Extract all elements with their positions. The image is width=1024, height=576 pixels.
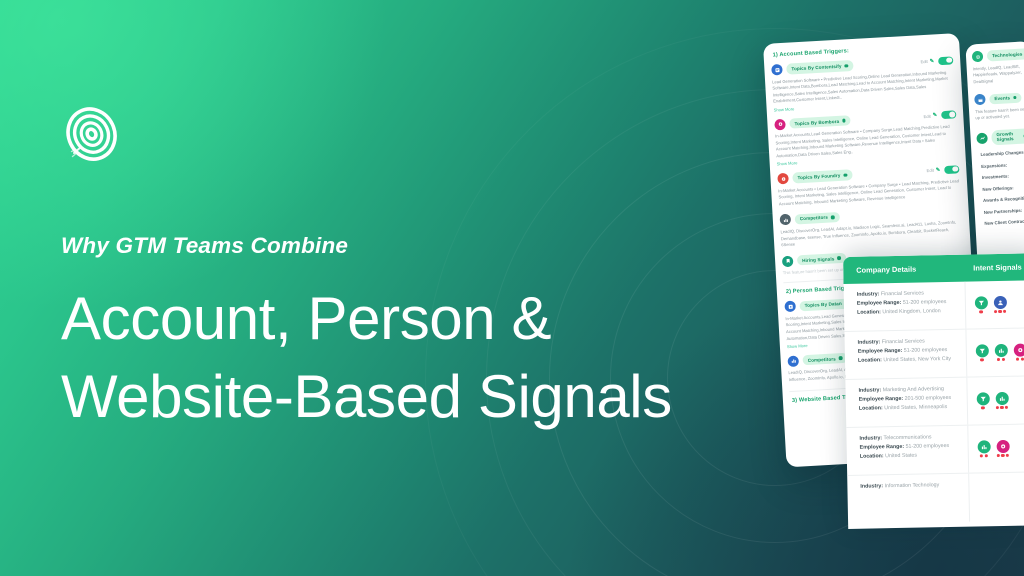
intent-signal-item[interactable]	[1013, 343, 1024, 361]
concentric-target-logo	[61, 104, 123, 166]
trigger-chip[interactable]: Competitors	[802, 353, 847, 366]
company-details-cell: Industry: Financial ServicesEmployee Ran…	[844, 282, 967, 331]
intent-signals-cell	[967, 376, 1024, 424]
edit-button[interactable]: Edit✎	[920, 58, 934, 65]
signal-strength-pips	[996, 454, 1010, 457]
enable-toggle[interactable]	[944, 165, 959, 174]
location-line: Location: United Kingdom, London	[857, 307, 957, 318]
signal-sub-item[interactable]: New Client Contracts:	[984, 219, 1024, 227]
company-details-cell: Industry: Information Technology	[847, 474, 970, 524]
enable-toggle[interactable]	[941, 110, 956, 119]
intent-signals-cell	[968, 424, 1024, 472]
competitors-icon	[780, 214, 792, 226]
signal-chip[interactable]: Technologies	[987, 48, 1024, 61]
trigger-chip[interactable]: Hiring Signals	[797, 253, 846, 266]
edit-button[interactable]: Edit✎	[923, 112, 937, 119]
page-title: Account, Person & Website-Based Signals	[61, 280, 721, 436]
signal-sub-item[interactable]: Leadership Changes:	[980, 150, 1024, 158]
bombora-icon	[996, 439, 1009, 452]
signal-row[interactable]: TechnologiesIntently, LeadIQ, LeadSift, …	[972, 48, 1024, 85]
intent-signal-item[interactable]	[993, 295, 1007, 313]
industry-line: Industry: Information Technology	[860, 481, 960, 492]
bombora-icon	[1013, 343, 1024, 356]
filter-icon	[976, 392, 989, 405]
technologies-icon	[972, 51, 984, 63]
trigger-row[interactable]: Topics By FoundryEdit✎In-Market Accounts…	[777, 163, 961, 207]
table-row[interactable]: Industry: Marketing And AdvertisingEmplo…	[845, 376, 1024, 428]
location-line: Location: United States, Minneapolis	[859, 403, 959, 414]
signal-sub-item[interactable]: Expansions:	[981, 161, 1024, 169]
company-details-table: Company Details Intent Signals Industry:…	[843, 253, 1024, 529]
foundry-icon	[777, 173, 789, 185]
signal-sub-item[interactable]: New Offerings:	[982, 184, 1024, 192]
trigger-chip[interactable]: Topics By Bombora	[789, 115, 851, 129]
competitors-icon	[787, 355, 799, 367]
trigger-chip[interactable]: Competitors	[795, 212, 840, 225]
dataprovider-icon	[784, 301, 796, 313]
signal-chip[interactable]: Growth Signals	[991, 128, 1024, 145]
growth-icon	[976, 132, 988, 144]
pencil-icon: ✎	[936, 167, 941, 173]
signal-row[interactable]: EventsThis feature hasn't been set up or…	[974, 91, 1024, 122]
company-details-cell: Industry: TelecommunicationsEmployee Ran…	[846, 426, 969, 475]
trigger-row[interactable]: CompetitorsLeadIQ, DiscoverOrg, LeadAI, …	[780, 205, 964, 249]
intent-signals-cell	[966, 328, 1024, 376]
table-row[interactable]: Industry: Financial ServicesEmployee Ran…	[844, 280, 1024, 332]
signal-strength-pips	[977, 454, 991, 457]
signal-strength-pips	[1013, 358, 1024, 361]
location-line: Location: United States, New York City	[858, 355, 958, 366]
intent-signal-item[interactable]	[975, 344, 989, 362]
signal-strength-pips	[994, 358, 1008, 361]
pencil-icon: ✎	[930, 58, 935, 64]
column-header-intent-signals: Intent Signals	[965, 263, 1022, 273]
table-row[interactable]: Industry: Information Technology	[847, 472, 1024, 524]
company-details-cell: Industry: Marketing And AdvertisingEmplo…	[845, 378, 968, 427]
signal-strength-pips	[993, 310, 1007, 313]
edit-button[interactable]: Edit✎	[926, 167, 940, 174]
trigger-row[interactable]: Topics By ContentsifyEdit✎Lead Generatio…	[771, 54, 955, 112]
filter-icon	[975, 344, 988, 357]
trigger-row[interactable]: Topics By BomboraEdit✎In-Market Accounts…	[774, 109, 958, 167]
events-icon	[974, 94, 986, 106]
intent-signal-item[interactable]	[974, 296, 988, 314]
signal-body: Intently, LeadIQ, LeadSift, Happierleads…	[973, 63, 1024, 86]
signal-sub-item[interactable]: Awards & Recognition:	[983, 196, 1024, 204]
intent-signal-item[interactable]	[994, 343, 1008, 361]
signal-sub-item[interactable]: Investments:	[982, 173, 1024, 181]
chart-icon	[995, 391, 1008, 404]
signal-strength-pips	[974, 310, 988, 313]
intent-signal-item[interactable]	[976, 392, 990, 410]
signal-strength-pips	[995, 406, 1009, 409]
intent-signals-cell	[965, 280, 1024, 328]
filter-icon	[974, 296, 987, 309]
trigger-chip[interactable]: Topics By Contentsify	[786, 60, 853, 74]
eyebrow-text: Why GTM Teams Combine	[61, 233, 721, 259]
signal-sub-item[interactable]: New Partnerships:	[984, 207, 1024, 215]
signal-body: This feature hasn't been set up or activ…	[975, 106, 1024, 122]
chart-icon	[994, 343, 1007, 356]
intent-signal-item[interactable]	[977, 440, 991, 458]
signal-chip[interactable]: Events	[989, 92, 1022, 104]
contentsyndication-icon	[771, 64, 783, 76]
hiring-icon	[782, 255, 794, 267]
pencil-icon: ✎	[933, 112, 938, 118]
contacts-icon	[993, 295, 1006, 308]
location-line: Location: United States	[860, 451, 960, 462]
slide-canvas: Why GTM Teams Combine Account, Person & …	[0, 0, 1024, 576]
signal-row[interactable]: Growth SignalsLeadership Changes:Expansi…	[976, 128, 1024, 227]
intent-signals-cell	[969, 472, 1024, 521]
table-header-row: Company Details Intent Signals	[843, 253, 1024, 284]
signal-strength-pips	[976, 406, 990, 409]
table-row[interactable]: Industry: Financial ServicesEmployee Ran…	[844, 328, 1024, 380]
intent-signal-item[interactable]	[995, 391, 1009, 409]
column-header-company-details: Company Details	[843, 264, 965, 275]
bombora-icon	[774, 118, 786, 130]
hero-content: Why GTM Teams Combine Account, Person & …	[61, 104, 721, 436]
signal-strength-pips	[975, 358, 989, 361]
chart-icon	[977, 440, 990, 453]
table-row[interactable]: Industry: TelecommunicationsEmployee Ran…	[846, 424, 1024, 476]
enable-toggle[interactable]	[938, 56, 953, 65]
trigger-chip[interactable]: Topics By Foundry	[792, 170, 852, 183]
company-details-cell: Industry: Financial ServicesEmployee Ran…	[844, 330, 967, 379]
intent-signal-item[interactable]	[996, 439, 1010, 457]
